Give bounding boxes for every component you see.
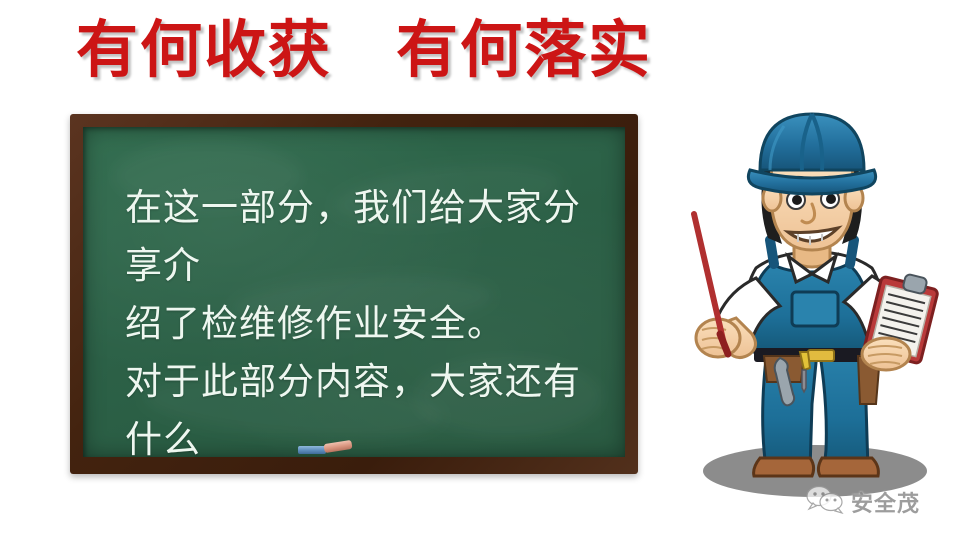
wechat-icon (805, 484, 845, 519)
page-title: 有何收获 有何落实 (76, 14, 652, 86)
belt-buckle (808, 350, 834, 361)
blackboard-surface: 在这一部分，我们给大家分享介 绍了检维修作业安全。 对于此部分内容，大家还有什么… (83, 127, 625, 457)
safety-worker-illustration (660, 86, 960, 506)
left-strap (770, 240, 774, 264)
left-boot (754, 458, 814, 476)
screwdriver-shaft (802, 370, 806, 392)
right-pupil (826, 194, 836, 204)
right-strap (850, 240, 854, 264)
watermark: 安全茂 (805, 484, 920, 519)
slide-canvas: 有何收获 有何落实 在这一部分，我们给大家分享介 绍了检维修作业安全。 对于此部… (0, 0, 960, 540)
watermark-text: 安全茂 (851, 486, 920, 518)
blackboard: 在这一部分，我们给大家分享介 绍了检维修作业安全。 对于此部分内容，大家还有什么… (70, 114, 638, 474)
chest-pocket (792, 292, 838, 326)
blue-chalk (298, 446, 326, 454)
blackboard-body-text: 在这一部分，我们给大家分享介 绍了检维修作业安全。 对于此部分内容，大家还有什么… (125, 179, 607, 457)
left-pupil (792, 195, 802, 205)
clipboard-hand (862, 338, 910, 370)
right-boot (818, 458, 878, 476)
